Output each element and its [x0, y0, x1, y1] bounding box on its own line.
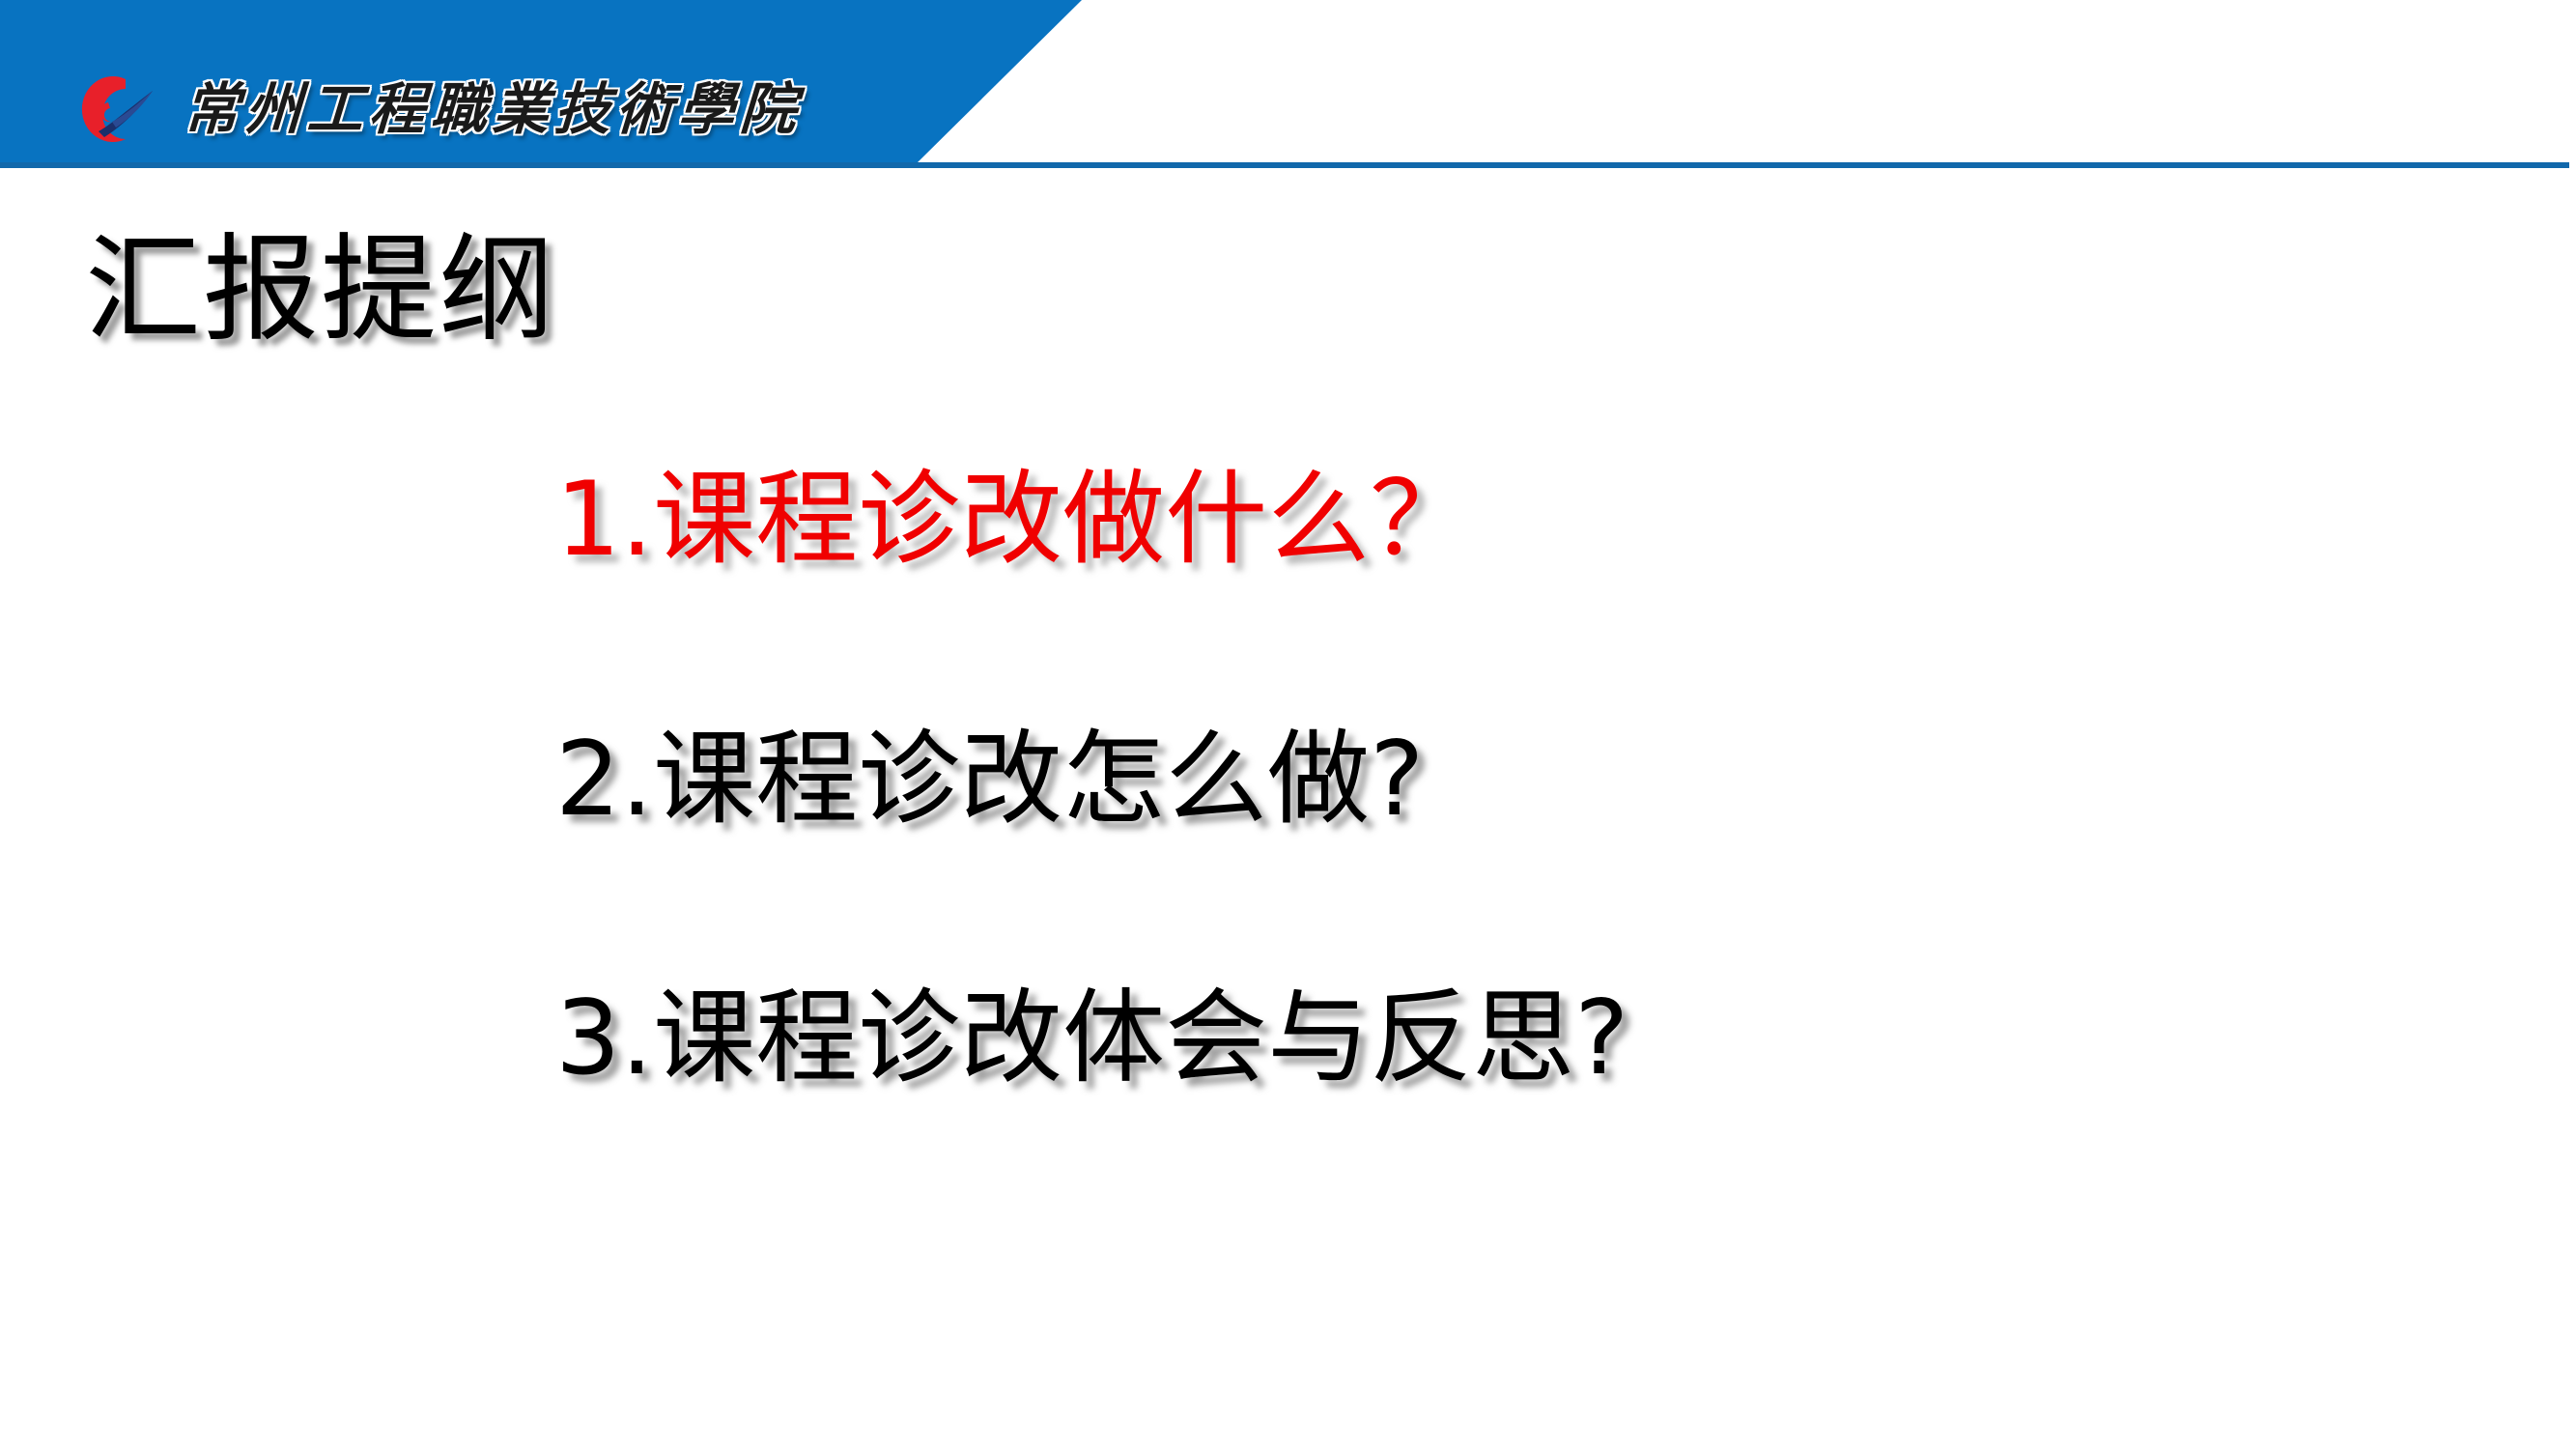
presentation-slide: 常州工程職業技術學院 汇报提纲 1.课程诊改做什么？ 2.课程诊改怎么做? 3.…	[0, 0, 2576, 1450]
institution-logo-icon	[70, 68, 158, 151]
header-divider-rule	[0, 162, 2569, 168]
outline-list: 1.课程诊改做什么？ 2.课程诊改怎么做? 3.课程诊改体会与反思?	[555, 464, 2487, 1095]
outline-item-1[interactable]: 1.课程诊改做什么？	[555, 464, 2487, 577]
institution-name: 常州工程職業技術學院	[182, 81, 803, 137]
outline-item-2[interactable]: 2.课程诊改怎么做?	[555, 724, 2487, 837]
institution-logo-block: 常州工程職業技術學院	[70, 68, 802, 151]
page-title: 汇报提纲	[85, 224, 556, 357]
outline-item-3[interactable]: 3.课程诊改体会与反思?	[555, 982, 2487, 1095]
